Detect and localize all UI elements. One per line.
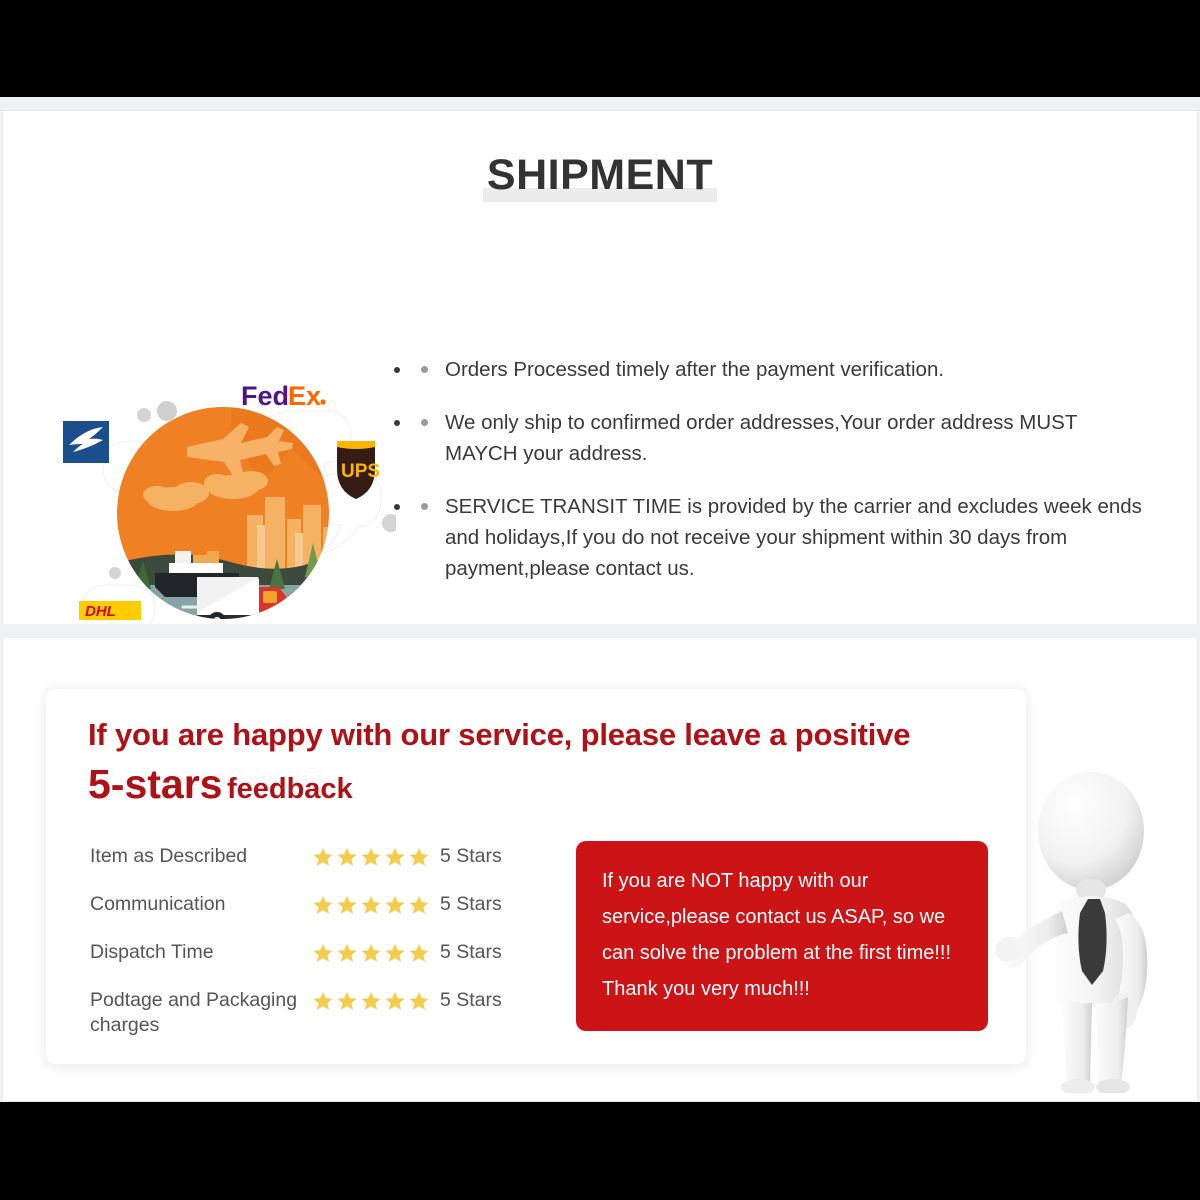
star-icon [384,894,406,916]
shipment-title-text: SHIPMENT [487,151,713,199]
svg-text:Fed: Fed [241,381,289,411]
rating-label: Communication [90,892,312,917]
feedback-heading-line1: If you are happy with our service, pleas… [88,715,988,755]
star-icon [336,846,358,868]
star-icon [384,942,406,964]
star-icon [312,846,334,868]
bullet-dot-icon [421,419,428,426]
star-icon [336,942,358,964]
bullet-dot-icon [421,366,428,373]
star-icon [360,942,382,964]
rating-row-dispatch-time: Dispatch Time 5 Stars [90,940,570,974]
ratings-list: Item as Described 5 Stars Communication [90,844,570,1058]
rating-count-label: 5 Stars [440,940,502,964]
usps-logo [63,421,109,463]
rating-row-item-as-described: Item as Described 5 Stars [90,844,570,878]
star-rating-icons [312,940,430,964]
shipping-logistics-illustration: Fed Ex UPS DHL [51,363,396,653]
shipment-title: SHIPMENT [473,151,727,200]
star-icon [384,990,406,1012]
waving-3d-mannequin-figure [996,753,1198,1093]
rating-count-label: 5 Stars [440,988,502,1012]
shipment-panel-card: SHIPMENT [2,110,1198,624]
star-icon [360,990,382,1012]
star-rating-icons [312,892,430,916]
rating-count-label: 5 Stars [440,892,502,916]
star-rating-icons [312,844,430,868]
list-item: SERVICE TRANSIT TIME is provided by the … [413,491,1143,584]
star-icon [312,942,334,964]
page-title: SHIPMENT [3,151,1197,200]
bullet-text: SERVICE TRANSIT TIME is provided by the … [445,495,1142,580]
svg-text:UPS: UPS [341,461,380,482]
feedback-card: If you are happy with our service, pleas… [46,689,1026,1064]
rating-count-label: 5 Stars [440,844,502,868]
feedback-heading-feedback: feedback [227,773,353,805]
dhl-logo: DHL [79,601,141,620]
bullet-text: Orders Processed timely after the paymen… [445,358,944,381]
star-icon [312,990,334,1012]
feedback-heading-stars: 5-stars [88,761,222,807]
feedback-heading-line2: 5-stars feedback [88,761,988,817]
list-item: Orders Processed timely after the paymen… [413,354,1143,385]
star-icon [384,846,406,868]
rating-row-communication: Communication 5 Stars [90,892,570,926]
star-icon [336,894,358,916]
svg-text:Ex: Ex [288,381,321,411]
letterbox-bottom-bar [0,1102,1200,1200]
rating-label: Podtage and Packaging charges [90,988,312,1038]
not-happy-warning-box: If you are NOT happy with our service,pl… [576,841,988,1031]
page-root: SHIPMENT [0,0,1200,1200]
star-icon [360,894,382,916]
star-icon [408,942,430,964]
feedback-panel: If you are happy with our service, pleas… [0,624,1200,1102]
star-icon [360,846,382,868]
bullet-text: We only ship to confirmed order addresse… [445,411,1077,465]
rating-label: Item as Described [90,844,312,869]
shipment-panel: SHIPMENT [0,97,1200,624]
shipment-bullet-list: Orders Processed timely after the paymen… [413,354,1143,606]
star-icon [408,846,430,868]
rating-row-postage-packaging: Podtage and Packaging charges 5 Stars [90,988,570,1044]
letterbox-top-bar [0,0,1200,97]
rating-label: Dispatch Time [90,940,312,965]
svg-text:DHL: DHL [85,603,116,620]
list-item: We only ship to confirmed order addresse… [413,407,1143,469]
bullet-dot-icon [421,503,428,510]
feedback-panel-card: If you are happy with our service, pleas… [2,638,1198,1102]
fedex-logo: Fed Ex [241,381,326,411]
star-icon [312,894,334,916]
feedback-heading: If you are happy with our service, pleas… [88,715,988,817]
star-icon [336,990,358,1012]
star-rating-icons [312,988,430,1012]
star-icon [408,894,430,916]
star-icon [408,990,430,1012]
